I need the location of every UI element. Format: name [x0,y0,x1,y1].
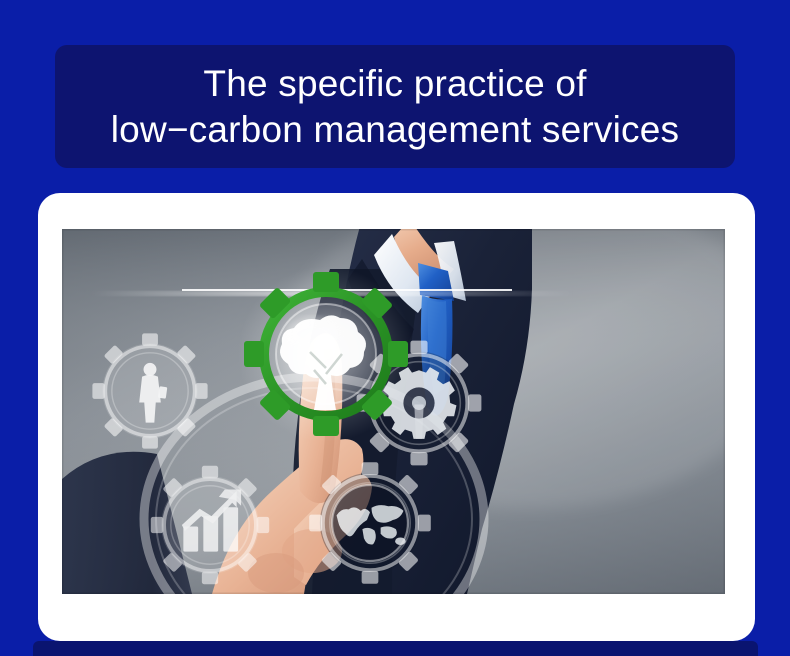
next-section-band [33,641,758,656]
hero-photo-graphic [62,229,725,594]
title-banner: The specific practice of low−carbon mana… [55,45,735,168]
title-line-1: The specific practice of [203,61,586,107]
slide-root: The specific practice of low−carbon mana… [0,0,790,656]
hero-photo [62,229,725,594]
title-line-2: low−carbon management services [111,107,679,153]
